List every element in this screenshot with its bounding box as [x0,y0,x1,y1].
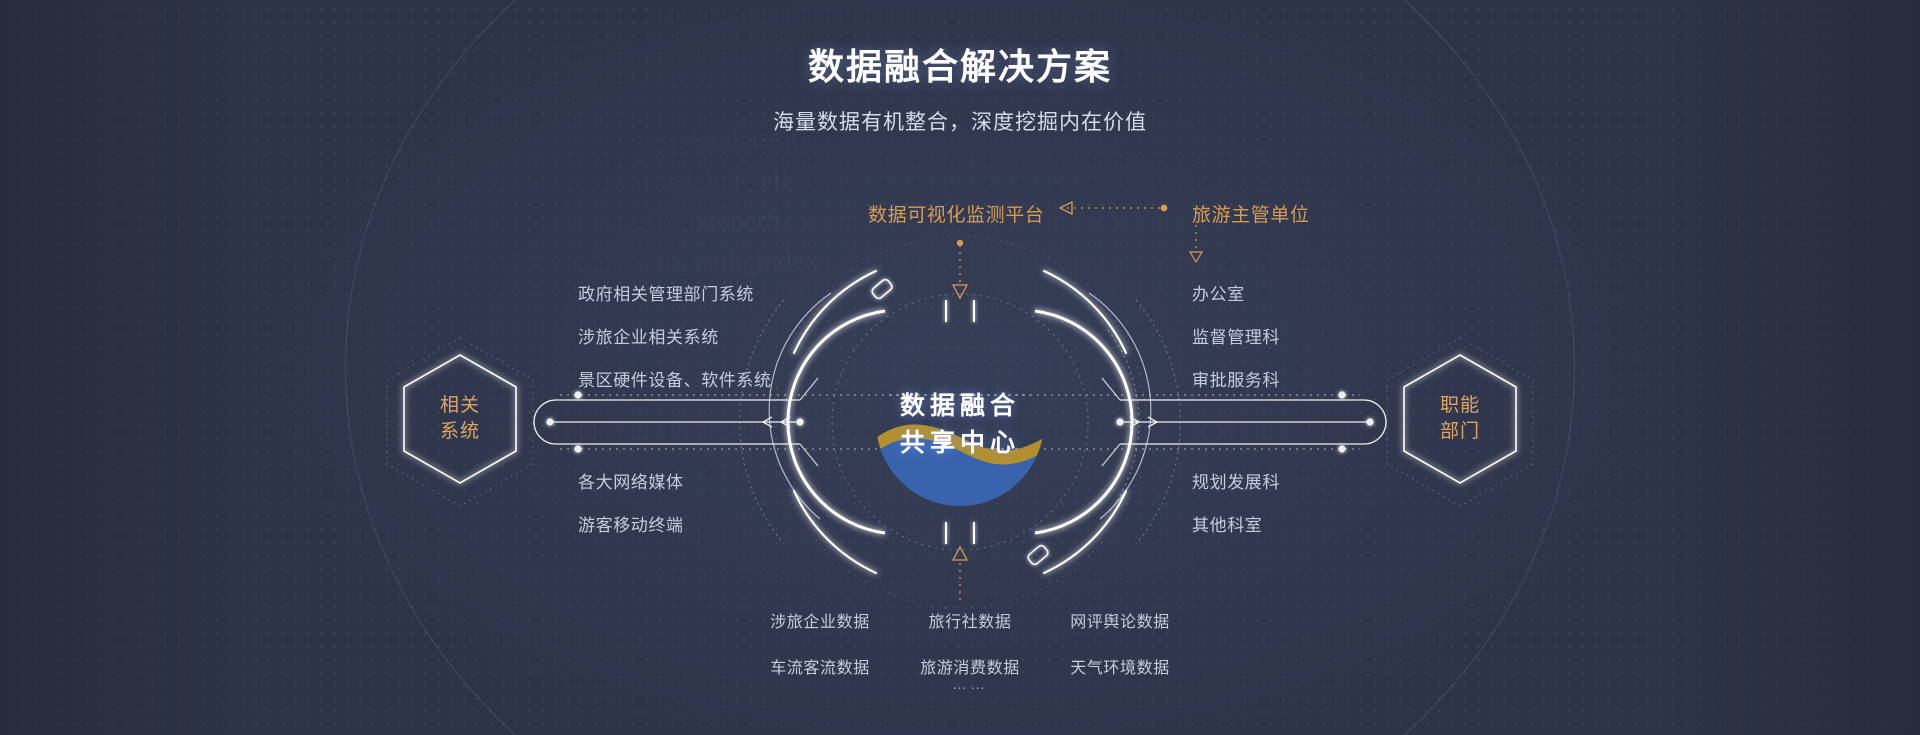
list-item: 涉旅企业数据 [745,608,895,632]
hexagon-left[interactable]: 相关 系统 [404,355,516,483]
list-item: 旅游消费数据 [895,654,1045,678]
left-column-bottom: 各大网络媒体 游客移动终端 [578,468,684,554]
label-tourism-authority[interactable]: 旅游主管单位 [1192,200,1310,227]
list-item: 办公室 [1192,280,1280,305]
hexagon-left-line1: 相关 [440,393,480,419]
list-item: 车流客流数据 [745,654,895,678]
ring-flourish [740,300,1181,544]
hexagon-right-line1: 职能 [1440,393,1480,419]
core-fill [876,425,1044,520]
list-item: 各大网络媒体 [578,468,684,493]
bottom-data-grid: 涉旅企业数据 旅行社数据 网评舆论数据 车流客流数据 旅游消费数据 天气环境数据 [745,608,1195,678]
right-column-top: 办公室 监督管理科 审批服务科 [1192,280,1280,409]
list-item: 涉旅企业相关系统 [578,323,772,348]
list-item: 天气环境数据 [1045,654,1195,678]
bottom-flow-connector [953,547,967,600]
page-header: 数据融合解决方案 海量数据有机整合，深度挖掘内在价值 [0,38,1920,136]
list-item: 监督管理科 [1192,323,1280,348]
page-subtitle: 海量数据有机整合，深度挖掘内在价值 [0,106,1920,136]
list-item: 政府相关管理部门系统 [578,280,772,305]
list-item: 其他科室 [1192,511,1280,536]
hexagon-right[interactable]: 职能 部门 [1404,355,1516,483]
core-rings [769,236,1151,608]
list-item: 规划发展科 [1192,468,1280,493]
label-visualization-platform[interactable]: 数据可视化监测平台 [868,200,1044,227]
list-item: 景区硬件设备、软件系统 [578,366,772,391]
list-item: 网评舆论数据 [1045,608,1195,632]
list-item: 审批服务科 [1192,366,1280,391]
hexagon-left-line2: 系统 [440,419,480,445]
hexagon-right-line2: 部门 [1440,419,1480,445]
list-item: 旅行社数据 [895,608,1045,632]
list-item: 游客移动终端 [578,511,684,536]
bottom-data-ellipsis: …… [745,676,1195,693]
left-column-top: 政府相关管理部门系统 涉旅企业相关系统 景区硬件设备、软件系统 [578,280,772,409]
right-column-bottom: 规划发展科 其他科室 [1192,468,1280,554]
page-title: 数据融合解决方案 [0,38,1920,90]
